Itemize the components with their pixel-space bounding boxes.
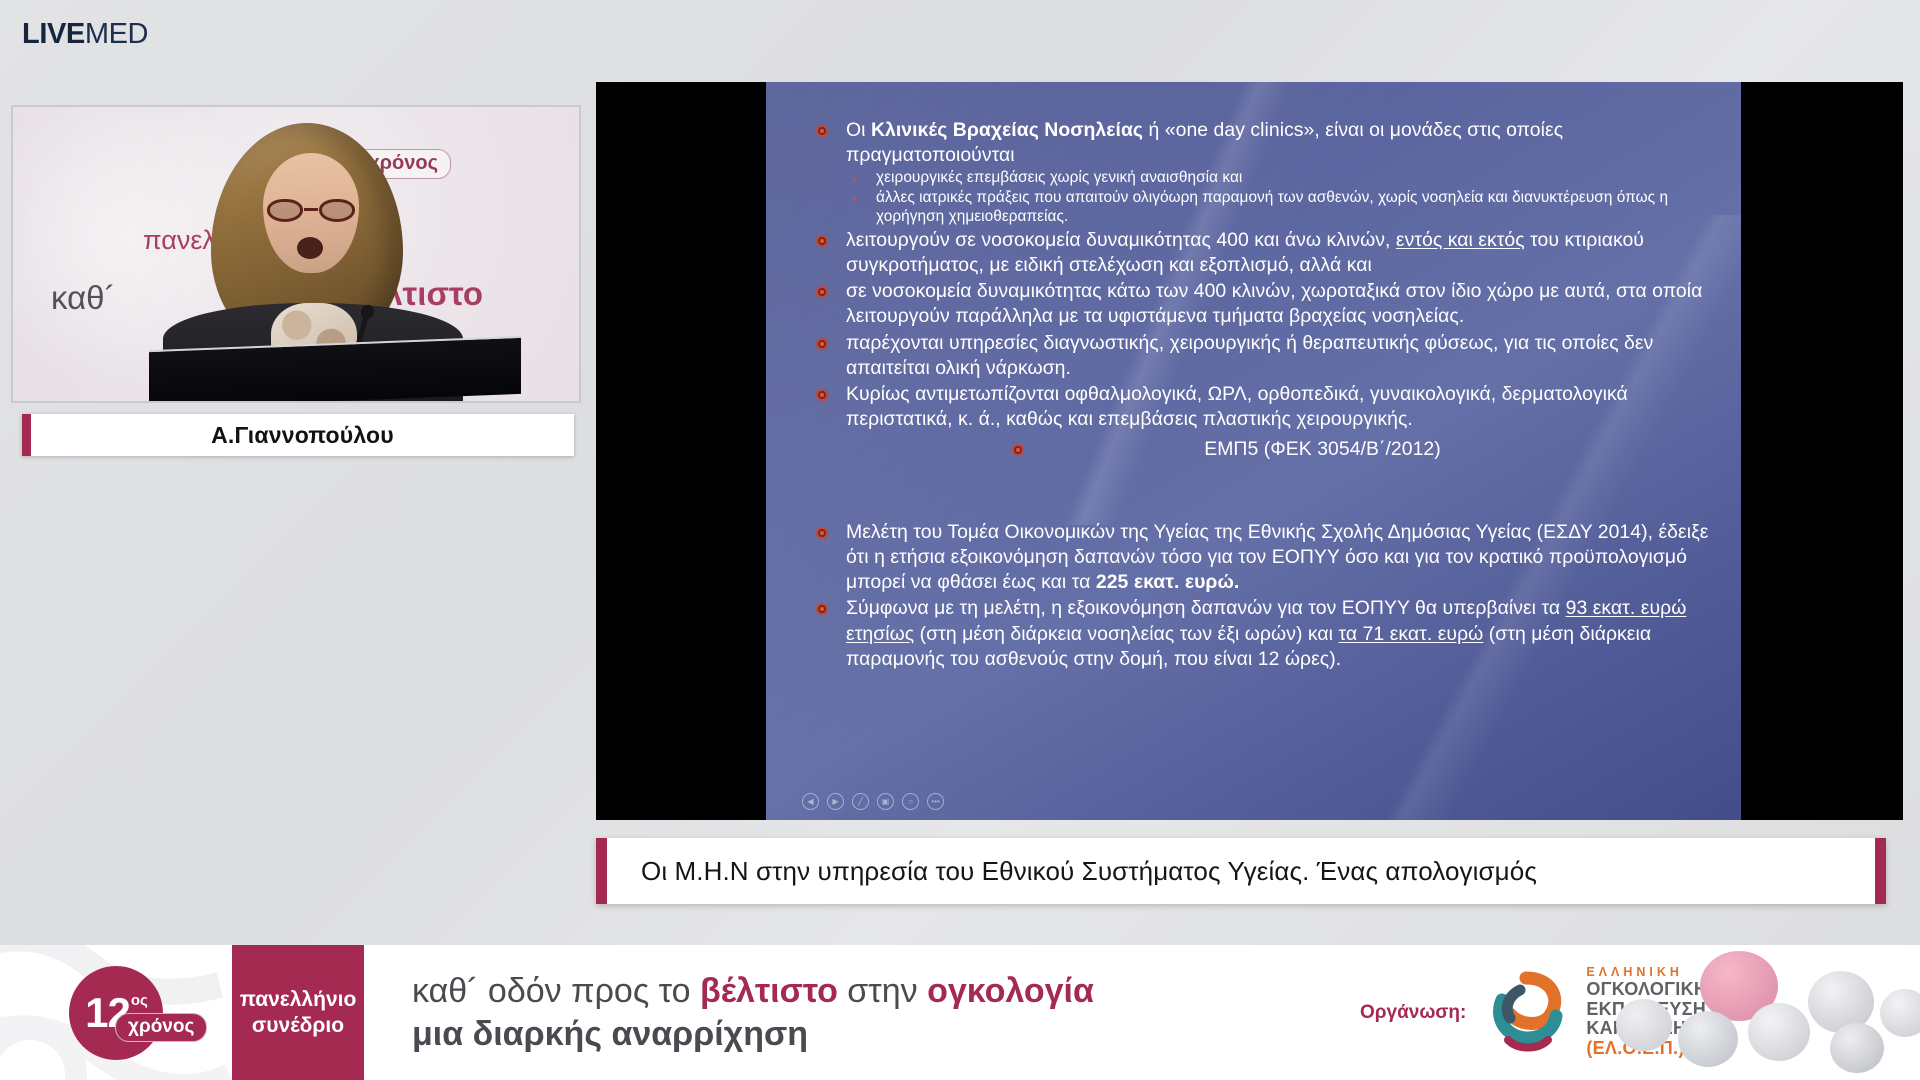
tagline-line-2: μια διαρκής αναρρίχηση xyxy=(412,1013,1360,1056)
presentation-title: Οι Μ.Η.Ν στην υπηρεσία του Εθνικού Συστή… xyxy=(607,856,1537,887)
chevron-right-icon: › xyxy=(852,171,856,187)
logo-med-text: MED xyxy=(85,18,148,50)
speaker-video-player[interactable]: πανελλήνιο συνέδριο καθ´ βέλτιστο χρόνος xyxy=(11,105,581,403)
app-header: LIVEMED xyxy=(0,0,1920,68)
slide-control-bar[interactable]: ◀▶╱▣○••• xyxy=(802,793,944,810)
more-options-icon[interactable]: ••• xyxy=(927,793,944,810)
slide-bullet: ›χειρουργικές επεμβάσεις χωρίς γενική αν… xyxy=(812,169,1713,188)
anniversary-badge: 12 ος χρόνος xyxy=(69,966,163,1060)
logo-live-text: LIVE xyxy=(22,18,85,50)
presentation-title-bar: Οι Μ.Η.Ν στην υπηρεσία του Εθνικού Συστή… xyxy=(596,838,1886,904)
speaker-mouth xyxy=(297,237,323,259)
slide-bullet-text: Κυρίως αντιμετωπίζονται οφθαλμολογικά, Ω… xyxy=(846,383,1628,430)
balloon-gray-1 xyxy=(1616,999,1672,1051)
chevron-right-icon: › xyxy=(852,191,856,207)
conference-type-line1: πανελλήνιο xyxy=(240,987,357,1013)
target-bullet-icon xyxy=(816,125,828,137)
slide-bullet-text: σε νοσοκομεία δυναμικότητας κάτω των 400… xyxy=(846,280,1702,327)
conference-type-line2: συνέδριο xyxy=(252,1013,344,1039)
pen-tool-icon[interactable]: ╱ xyxy=(852,793,869,810)
conference-type-block: πανελλήνιο συνέδριο xyxy=(232,945,364,1080)
balloon-decoration xyxy=(1580,945,1920,1080)
livemed-logo[interactable]: LIVEMED xyxy=(22,20,148,49)
slide-bullet-text: λειτουργούν σε νοσοκομεία δυναμικότητας … xyxy=(846,229,1644,276)
balloon-gray-3 xyxy=(1748,1003,1810,1061)
slide-bullet: παρέχονται υπηρεσίες διαγνωστικής, χειρο… xyxy=(812,331,1713,381)
slide-citation: ΕΜΠ5 (ΦΕΚ 3054/Β΄/2012) xyxy=(812,437,1713,462)
slide-bullet: Σύμφωνα με τη μελέτη, η εξοικονόμηση δαπ… xyxy=(812,596,1713,672)
speaker-name-label: Α.Γιαννοπούλου xyxy=(211,422,394,449)
tagline-text-a: καθ´ οδόν προς το xyxy=(412,972,700,1010)
slide-citation-text: ΕΜΠ5 (ΦΕΚ 3054/Β΄/2012) xyxy=(1204,438,1441,460)
badge-chronos-label: χρόνος xyxy=(115,1013,207,1042)
target-bullet-icon xyxy=(816,603,828,615)
tagline-highlight-ogkologia: ογκολογία xyxy=(927,972,1094,1010)
eloep-swirl-icon xyxy=(1480,970,1572,1056)
previous-slide-icon[interactable]: ◀ xyxy=(802,793,819,810)
sponsor-banner: 12 ος χρόνος πανελλήνιο συνέδριο καθ´ οδ… xyxy=(0,945,1920,1080)
target-bullet-icon xyxy=(816,338,828,350)
video-frame: πανελλήνιο συνέδριο καθ´ βέλτιστο χρόνος xyxy=(13,107,579,401)
slide-bullet: Κυρίως αντιμετωπίζονται οφθαλμολογικά, Ω… xyxy=(812,382,1713,432)
balloon-gray-5 xyxy=(1830,1023,1884,1073)
slide-stage[interactable]: Οι Κλινικές Βραχείας Νοσηλείας ή «one da… xyxy=(596,82,1903,820)
slide-bullet: ›άλλες ιατρικές πράξεις που απαιτούν ολι… xyxy=(812,189,1713,227)
slide-canvas: Οι Κλινικές Βραχείας Νοσηλείας ή «one da… xyxy=(766,82,1741,820)
badge-ordinal: ος xyxy=(131,992,148,1009)
slide-bullet-text: παρέχονται υπηρεσίες διαγνωστικής, χειρο… xyxy=(846,332,1653,379)
speaker-glasses xyxy=(265,199,357,222)
target-bullet-icon xyxy=(816,235,828,247)
target-bullet-icon xyxy=(1012,444,1024,456)
balloon-gray-2 xyxy=(1678,1011,1738,1067)
tagline-highlight-veltisto: βέλτιστο xyxy=(700,972,838,1010)
slide-bullet: Μελέτη του Τομέα Οικονομικών της Υγείας … xyxy=(812,520,1713,596)
zoom-tool-icon[interactable]: ○ xyxy=(902,793,919,810)
tagline-line-1: καθ´ οδόν προς το βέλτιστο στην ογκολογί… xyxy=(412,970,1360,1013)
next-slide-icon[interactable]: ▶ xyxy=(827,793,844,810)
slide-bullet: Οι Κλινικές Βραχείας Νοσηλείας ή «one da… xyxy=(812,118,1713,168)
speaker-name-plate: Α.Γιαννοπούλου xyxy=(22,414,574,456)
slide-bullet-text: Οι Κλινικές Βραχείας Νοσηλείας ή «one da… xyxy=(846,119,1563,166)
balloon-gray-6 xyxy=(1880,989,1920,1037)
anniversary-badge-zone: 12 ος χρόνος xyxy=(0,945,232,1080)
tagline-text-b: στην xyxy=(838,972,927,1010)
slide-bullet-text: Σύμφωνα με τη μελέτη, η εξοικονόμηση δαπ… xyxy=(846,597,1686,669)
organizer-label: Οργάνωση: xyxy=(1360,1002,1466,1024)
slide-bullet: λειτουργούν σε νοσοκομεία δυναμικότητας … xyxy=(812,228,1713,278)
slide-spacer xyxy=(812,462,1713,520)
target-bullet-icon xyxy=(816,527,828,539)
slide-bullet-text: χειρουργικές επεμβάσεις χωρίς γενική ανα… xyxy=(876,169,1242,186)
slide-bullet-text: Μελέτη του Τομέα Οικονομικών της Υγείας … xyxy=(846,521,1709,593)
slide-bullet: σε νοσοκομεία δυναμικότητας κάτω των 400… xyxy=(812,279,1713,329)
conference-tagline: καθ´ οδόν προς το βέλτιστο στην ογκολογί… xyxy=(364,945,1360,1080)
slide-overview-icon[interactable]: ▣ xyxy=(877,793,894,810)
target-bullet-icon xyxy=(816,389,828,401)
slide-bullet-text: άλλες ιατρικές πράξεις που απαιτούν ολιγ… xyxy=(876,189,1668,225)
backdrop-kath-text: καθ´ xyxy=(51,279,116,317)
slide-content: Οι Κλινικές Βραχείας Νοσηλείας ή «one da… xyxy=(766,82,1741,672)
target-bullet-icon xyxy=(816,286,828,298)
